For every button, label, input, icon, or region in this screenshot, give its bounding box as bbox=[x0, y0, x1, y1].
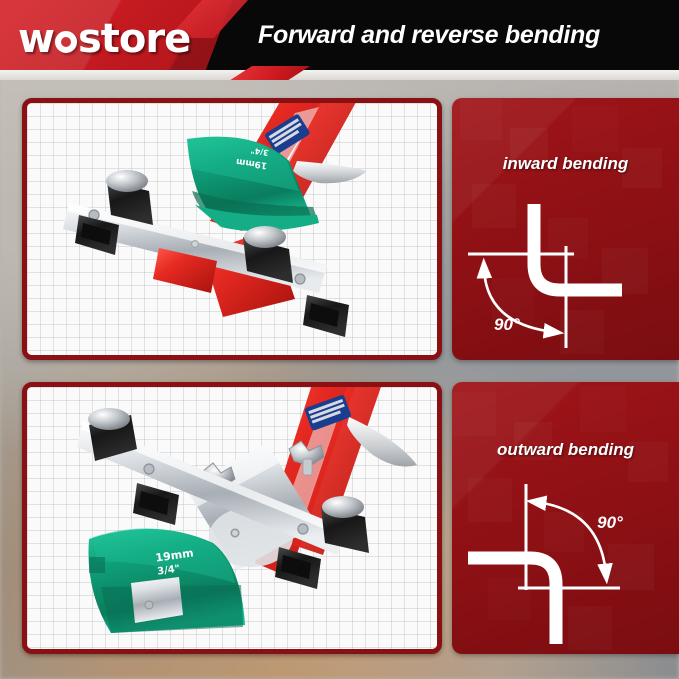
diagram-panel-outward: outward bending 90° bbox=[452, 382, 679, 654]
shoe-steel-roller bbox=[131, 577, 183, 623]
page-header: wstore Forward and reverse bending bbox=[0, 0, 679, 80]
bent-pipe bbox=[534, 204, 622, 290]
diagram-panel-inward: inward bending 90° bbox=[452, 98, 679, 360]
brand-logo-pre: w bbox=[18, 16, 54, 62]
header-light-strip bbox=[0, 70, 679, 80]
angle-value-inward: 90° bbox=[494, 315, 520, 334]
brand-logo: wstore bbox=[18, 16, 190, 62]
brand-logo-o-icon bbox=[55, 31, 77, 53]
angle-value-outward: 90° bbox=[597, 513, 623, 532]
bent-pipe bbox=[468, 558, 556, 644]
tube-bender-photo-outward: 19mm 3/4" bbox=[27, 387, 437, 649]
photo-panel-inward: 19mm 3/4" bbox=[22, 98, 442, 360]
inward-bending-label: inward bending bbox=[452, 154, 679, 174]
inward-bending-diagram: 90° bbox=[462, 190, 672, 355]
brand-logo-post: store bbox=[78, 16, 190, 62]
outward-bending-diagram: 90° bbox=[460, 478, 672, 648]
page-title: Forward and reverse bending bbox=[258, 21, 600, 50]
tube-bender-photo-inward: 19mm 3/4" bbox=[27, 103, 437, 355]
photo-panel-outward: 19mm 3/4" bbox=[22, 382, 442, 654]
outward-bending-label: outward bending bbox=[452, 440, 679, 460]
